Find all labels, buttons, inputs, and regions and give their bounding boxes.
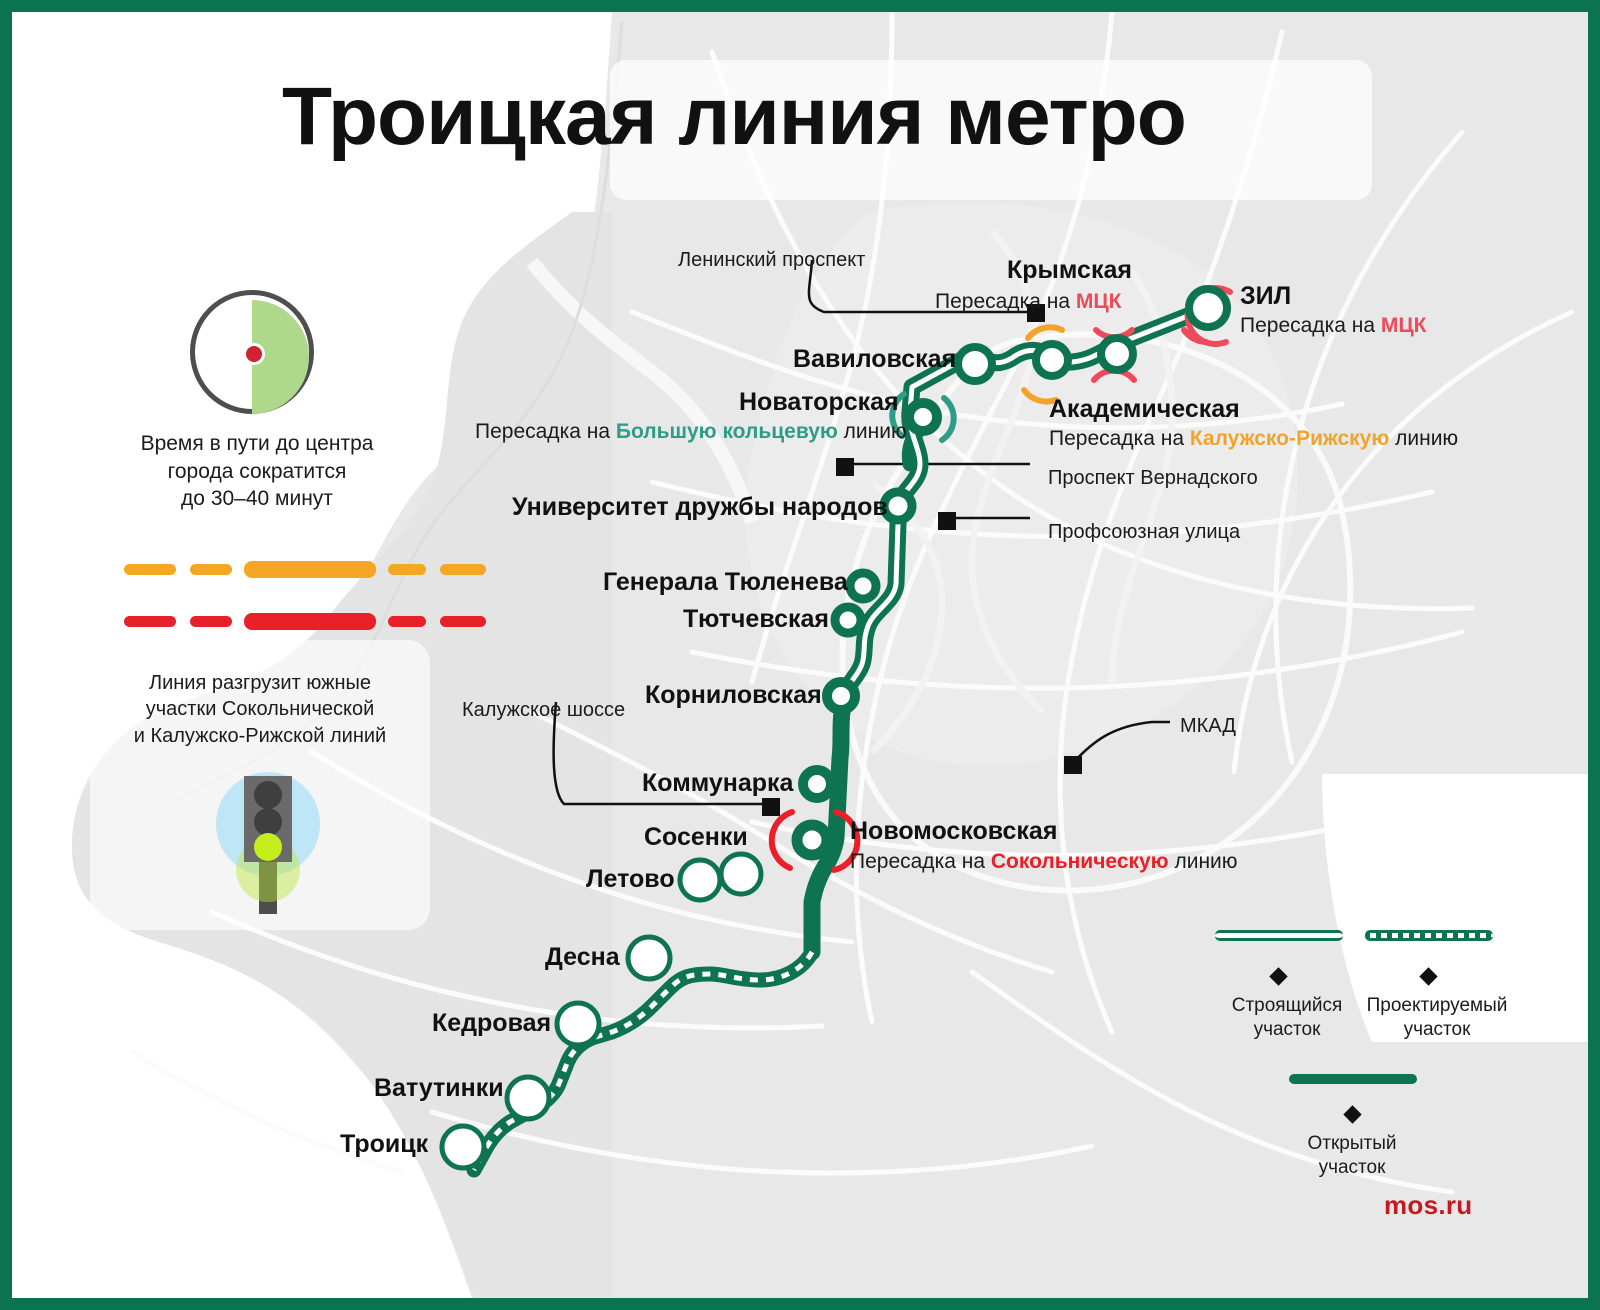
segment-projected-outer [474,952,812,1170]
station-label-kedrovaya: Кедровая [432,1009,551,1039]
transfer-line-name: МЦК [1381,314,1427,337]
legend-swatch-projected [1365,930,1493,941]
station-dot-krymskaya[interactable] [1101,338,1133,370]
station-transfer-akademicheskaya: Пересадка на Калужско-Рижскую линию [1049,427,1458,452]
station-dot-tyuleneva[interactable] [850,573,876,599]
legend-swatch-open [1289,1074,1417,1084]
poi-label-prospekt-vernadskogo: Проспект Вернадского [1048,467,1258,491]
transfer-prefix: Пересадка на [1240,314,1381,337]
transfer-prefix: Пересадка на [1049,427,1190,450]
station-label-zil: ЗИЛ [1240,282,1291,312]
station-dot-troitsk[interactable] [442,1126,484,1168]
station-dot-desna[interactable] [628,937,670,979]
station-dot-kommunarka[interactable] [803,770,831,798]
station-transfer-novatorskaya: Пересадка на Большую кольцевую линию [475,420,907,445]
transfer-suffix: линию [1389,427,1458,450]
station-transfer-zil: Пересадка на МЦК [1240,314,1427,339]
poi-label-mkad: МКАД [1180,715,1236,739]
station-dot-novatorskaya[interactable] [909,403,937,431]
legend-projected-line-2: участок [1347,1018,1527,1042]
station-transfer-krymskaya: Пересадка на МЦК [935,290,1122,315]
legend-label-projected: Проектируемый участок [1347,994,1527,1042]
transfer-suffix: линию [838,420,907,443]
poi-label-kaluzhskoe-shosse: Калужское шоссе [462,699,625,723]
station-dot-kedrovaya[interactable] [557,1003,599,1045]
station-dot-zil[interactable] [1189,289,1227,327]
transfer-prefix: Пересадка на [475,420,616,443]
station-label-sosenki: Сосенки [644,823,748,853]
transfer-prefix: Пересадка на [850,850,991,873]
poi-label-profsoyuznaya-ulitsa: Профсоюзная улица [1048,521,1240,545]
station-dot-vatutinki[interactable] [507,1077,549,1119]
station-label-akademicheskaya: Академическая [1049,395,1240,425]
legend-open-line-2: участок [1262,1156,1442,1180]
infographic-root: Троицкая линия метро Время в пути до цен… [0,0,1600,1310]
station-label-vatutinki: Ватутинки [374,1074,504,1104]
transfer-line-name: Калужско-Рижскую [1190,427,1389,450]
station-dot-letovo[interactable] [680,860,720,900]
poi-label-leninsky-prospekt: Ленинский проспект [678,249,865,273]
transfer-prefix: Пересадка на [935,290,1076,313]
legend-projected-line-1: Проектируемый [1347,994,1527,1018]
transfer-suffix: линию [1169,850,1238,873]
transfer-line-name: МЦК [1076,290,1122,313]
station-label-novomoskovskaya: Новомосковская [850,817,1057,847]
station-label-novatorskaya: Новаторская [739,388,899,418]
station-label-tyutchevskaya: Тютчевская [683,605,829,635]
station-dot-kornilovskaya[interactable] [827,682,855,710]
station-label-desna: Десна [545,943,620,973]
legend-open-line-1: Открытый [1262,1132,1442,1156]
station-label-udn: Университет дружбы народов [512,493,888,523]
transfer-line-name: Сокольническую [991,850,1169,873]
legend-label-open: Открытый участок [1262,1132,1442,1180]
station-label-letovo: Летово [586,865,675,895]
station-dot-akademicheskaya[interactable] [1036,344,1068,376]
station-dot-sosenki[interactable] [721,854,761,894]
station-label-vavilovskaya: Вавиловская [793,345,956,375]
station-transfer-novomoskovskaya: Пересадка на Сокольническую линию [850,850,1238,875]
mosru-watermark[interactable]: mos.ru [1384,1190,1472,1221]
transfer-line-name: Большую кольцевую [616,420,838,443]
station-label-krymskaya: Крымская [1007,256,1132,286]
station-dot-tyutchevskaya[interactable] [835,607,861,633]
station-label-tyuleneva: Генерала Тюленева [603,568,848,598]
station-label-kommunarka: Коммунарка [642,769,793,799]
infographic-canvas: Троицкая линия метро Время в пути до цен… [12,12,1588,1298]
station-label-troitsk: Троицк [340,1130,428,1160]
station-dot-udn[interactable] [884,492,912,520]
station-label-kornilovskaya: Корниловская [645,681,822,711]
station-dot-vavilovskaya[interactable] [958,347,992,381]
station-dot-novomoskovskaya[interactable] [797,825,827,855]
legend-swatch-construction [1215,930,1343,941]
